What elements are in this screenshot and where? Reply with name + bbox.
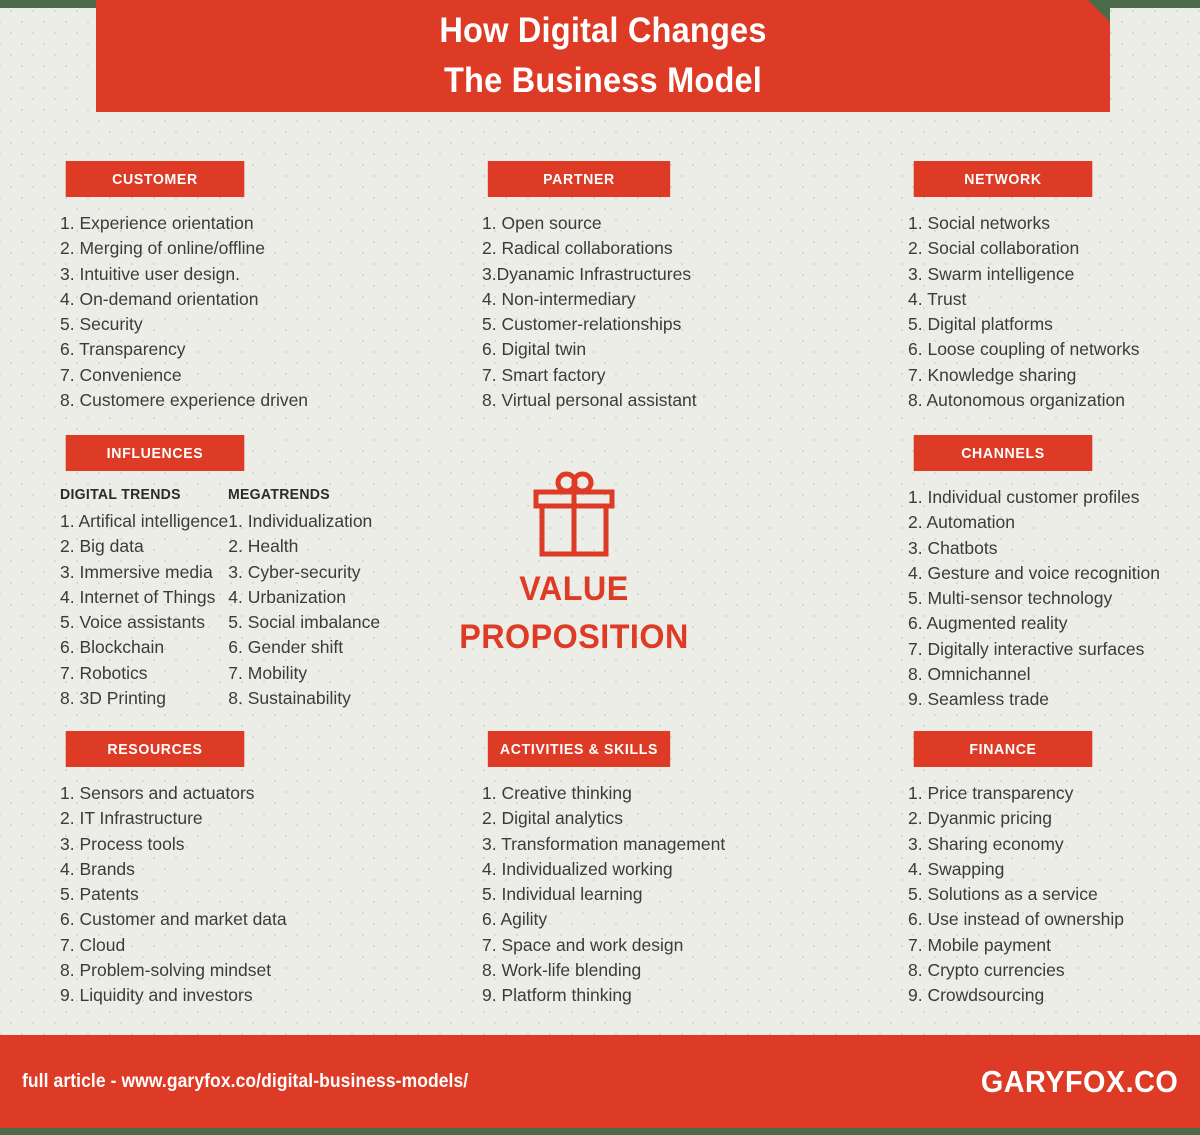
list-digital-trends: 1. Artifical intelligence 2. Big data 3.… xyxy=(60,509,228,711)
list-item: 6. Agility xyxy=(482,907,676,932)
subheading-digital-trends: DIGITAL TRENDS xyxy=(60,487,223,503)
list-item: 2. Health xyxy=(228,534,380,559)
list-item: 3. Swarm intelligence xyxy=(908,262,1098,287)
list-item: 4. Non-intermediary xyxy=(482,287,676,312)
block-customer: CUSTOMER 1. Experience orientation 2. Me… xyxy=(60,161,250,413)
list-item: 6. Use instead of ownership xyxy=(908,907,1098,932)
list-item: 6. Augmented reality xyxy=(908,611,1098,636)
list-item: 6. Loose coupling of networks xyxy=(908,337,1098,362)
list-item: 5. Security xyxy=(60,312,250,337)
block-activities-skills: ACTIVITIES & SKILLS 1. Creative thinking… xyxy=(482,731,676,1009)
page-title: How Digital Changes The Business Model xyxy=(131,0,1074,112)
list-item: 6. Digital twin xyxy=(482,337,676,362)
list-item: 7. Mobility xyxy=(228,661,380,686)
value-proposition: VALUE PROPOSITION xyxy=(446,470,702,657)
list-item: 6. Customer and market data xyxy=(60,907,250,932)
list-item: 7. Mobile payment xyxy=(908,933,1098,958)
block-tag-partner: PARTNER xyxy=(488,161,670,197)
block-tag-influences: INFLUENCES xyxy=(66,435,245,471)
list-item: 8. Virtual personal assistant xyxy=(482,388,676,413)
footer-brand: GARYFOX.CO xyxy=(981,1064,1178,1100)
block-tag-resources: RESOURCES xyxy=(66,731,245,767)
block-tag-channels: CHANNELS xyxy=(914,435,1093,471)
list-item: 4. Urbanization xyxy=(228,585,380,610)
list-item: 2. Big data xyxy=(60,534,228,559)
list-partner: 1. Open source 2. Radical collaborations… xyxy=(482,211,676,413)
subcolumn-megatrends: MEGATRENDS 1. Individualization 2. Healt… xyxy=(228,487,380,711)
list-item: 4. Gesture and voice recognition xyxy=(908,561,1098,586)
list-item: 7. Convenience xyxy=(60,363,250,388)
list-item: 2. Digital analytics xyxy=(482,806,676,831)
list-item: 7. Digitally interactive surfaces xyxy=(908,637,1098,662)
list-item: 6. Gender shift xyxy=(228,635,380,660)
list-item: 1. Creative thinking xyxy=(482,781,676,806)
list-item: 4. Trust xyxy=(908,287,1098,312)
block-tag-activities-skills: ACTIVITIES & SKILLS xyxy=(488,731,670,767)
list-item: 3.Dyanamic Infrastructures xyxy=(482,262,676,287)
list-item: 3. Transformation management xyxy=(482,832,676,857)
list-item: 3. Cyber-security xyxy=(228,560,380,585)
block-tag-network: NETWORK xyxy=(914,161,1093,197)
list-activities-skills: 1. Creative thinking 2. Digital analytic… xyxy=(482,781,676,1009)
list-item: 7. Cloud xyxy=(60,933,250,958)
list-item: 2. IT Infrastructure xyxy=(60,806,250,831)
list-item: 3. Intuitive user design. xyxy=(60,262,250,287)
list-item: 4. Internet of Things xyxy=(60,585,228,610)
list-item: 1. Experience orientation xyxy=(60,211,250,236)
list-finance: 1. Price transparency 2. Dyanmic pricing… xyxy=(908,781,1098,1009)
list-item: 7. Robotics xyxy=(60,661,228,686)
block-partner: PARTNER 1. Open source 2. Radical collab… xyxy=(482,161,676,413)
list-item: 3. Process tools xyxy=(60,832,250,857)
block-network: NETWORK 1. Social networks 2. Social col… xyxy=(908,161,1098,413)
block-finance: FINANCE 1. Price transparency 2. Dyanmic… xyxy=(908,731,1098,1009)
list-item: 9. Liquidity and investors xyxy=(60,983,250,1008)
list-item: 5. Patents xyxy=(60,882,250,907)
block-tag-customer: CUSTOMER xyxy=(66,161,245,197)
list-item: 2. Merging of online/offline xyxy=(60,236,250,261)
bottom-edge-strip xyxy=(0,1128,1200,1135)
list-channels: 1. Individual customer profiles 2. Autom… xyxy=(908,485,1098,713)
list-item: 8. Crypto currencies xyxy=(908,958,1098,983)
list-item: 8. Problem-solving mindset xyxy=(60,958,250,983)
list-item: 5. Social imbalance xyxy=(228,610,380,635)
list-item: 4. Individualized working xyxy=(482,857,676,882)
block-influences: INFLUENCES DIGITAL TRENDS 1. Artifical i… xyxy=(60,435,250,711)
page-title-line-1: How Digital Changes xyxy=(439,6,766,56)
header-corner-notch xyxy=(1088,0,1110,22)
list-item: 7. Space and work design xyxy=(482,933,676,958)
block-channels: CHANNELS 1. Individual customer profiles… xyxy=(908,435,1098,713)
header-banner: How Digital Changes The Business Model xyxy=(96,0,1110,112)
list-network: 1. Social networks 2. Social collaborati… xyxy=(908,211,1098,413)
footer-article-link[interactable]: full article - www.garyfox.co/digital-bu… xyxy=(22,1071,468,1093)
gift-box-icon xyxy=(522,470,626,562)
list-item: 5. Digital platforms xyxy=(908,312,1098,337)
infographic-poster: How Digital Changes The Business Model C… xyxy=(0,0,1200,1135)
footer-bar: full article - www.garyfox.co/digital-bu… xyxy=(0,1035,1200,1128)
list-item: 8. Customere experience driven xyxy=(60,388,250,413)
subheading-megatrends: MEGATRENDS xyxy=(228,487,375,503)
influences-subcolumns: DIGITAL TRENDS 1. Artifical intelligence… xyxy=(60,487,250,711)
list-item: 4. On-demand orientation xyxy=(60,287,250,312)
list-item: 3. Immersive media xyxy=(60,560,228,585)
list-item: 8. Omnichannel xyxy=(908,662,1098,687)
value-proposition-line-1: VALUE xyxy=(452,570,695,609)
list-item: 5. Individual learning xyxy=(482,882,676,907)
list-customer: 1. Experience orientation 2. Merging of … xyxy=(60,211,250,413)
list-item: 9. Crowdsourcing xyxy=(908,983,1098,1008)
value-proposition-line-2: PROPOSITION xyxy=(452,618,695,657)
block-resources: RESOURCES 1. Sensors and actuators 2. IT… xyxy=(60,731,250,1009)
list-item: 1. Open source xyxy=(482,211,676,236)
list-item: 5. Solutions as a service xyxy=(908,882,1098,907)
list-item: 9. Seamless trade xyxy=(908,687,1098,712)
list-item: 2. Radical collaborations xyxy=(482,236,676,261)
list-item: 7. Knowledge sharing xyxy=(908,363,1098,388)
list-item: 3. Sharing economy xyxy=(908,832,1098,857)
list-item: 7. Smart factory xyxy=(482,363,676,388)
block-tag-finance: FINANCE xyxy=(914,731,1093,767)
list-item: 1. Social networks xyxy=(908,211,1098,236)
list-item: 1. Sensors and actuators xyxy=(60,781,250,806)
list-item: 8. Autonomous organization xyxy=(908,388,1098,413)
list-item: 5. Multi-sensor technology xyxy=(908,586,1098,611)
list-item: 2. Automation xyxy=(908,510,1098,535)
list-item: 1. Individualization xyxy=(228,509,380,534)
list-item: 1. Individual customer profiles xyxy=(908,485,1098,510)
list-item: 8. Sustainability xyxy=(228,686,380,711)
subcolumn-digital-trends: DIGITAL TRENDS 1. Artifical intelligence… xyxy=(60,487,228,711)
list-item: 8. Work-life blending xyxy=(482,958,676,983)
list-item: 6. Blockchain xyxy=(60,635,228,660)
list-item: 8. 3D Printing xyxy=(60,686,228,711)
list-item: 2. Dyanmic pricing xyxy=(908,806,1098,831)
list-item: 5. Voice assistants xyxy=(60,610,228,635)
list-item: 4. Brands xyxy=(60,857,250,882)
list-item: 3. Chatbots xyxy=(908,536,1098,561)
list-item: 6. Transparency xyxy=(60,337,250,362)
list-item: 9. Platform thinking xyxy=(482,983,676,1008)
list-item: 1. Artifical intelligence xyxy=(60,509,228,534)
list-megatrends: 1. Individualization 2. Health 3. Cyber-… xyxy=(228,509,380,711)
list-item: 2. Social collaboration xyxy=(908,236,1098,261)
page-title-line-2: The Business Model xyxy=(444,56,762,106)
list-item: 1. Price transparency xyxy=(908,781,1098,806)
list-resources: 1. Sensors and actuators 2. IT Infrastru… xyxy=(60,781,250,1009)
list-item: 5. Customer-relationships xyxy=(482,312,676,337)
list-item: 4. Swapping xyxy=(908,857,1098,882)
